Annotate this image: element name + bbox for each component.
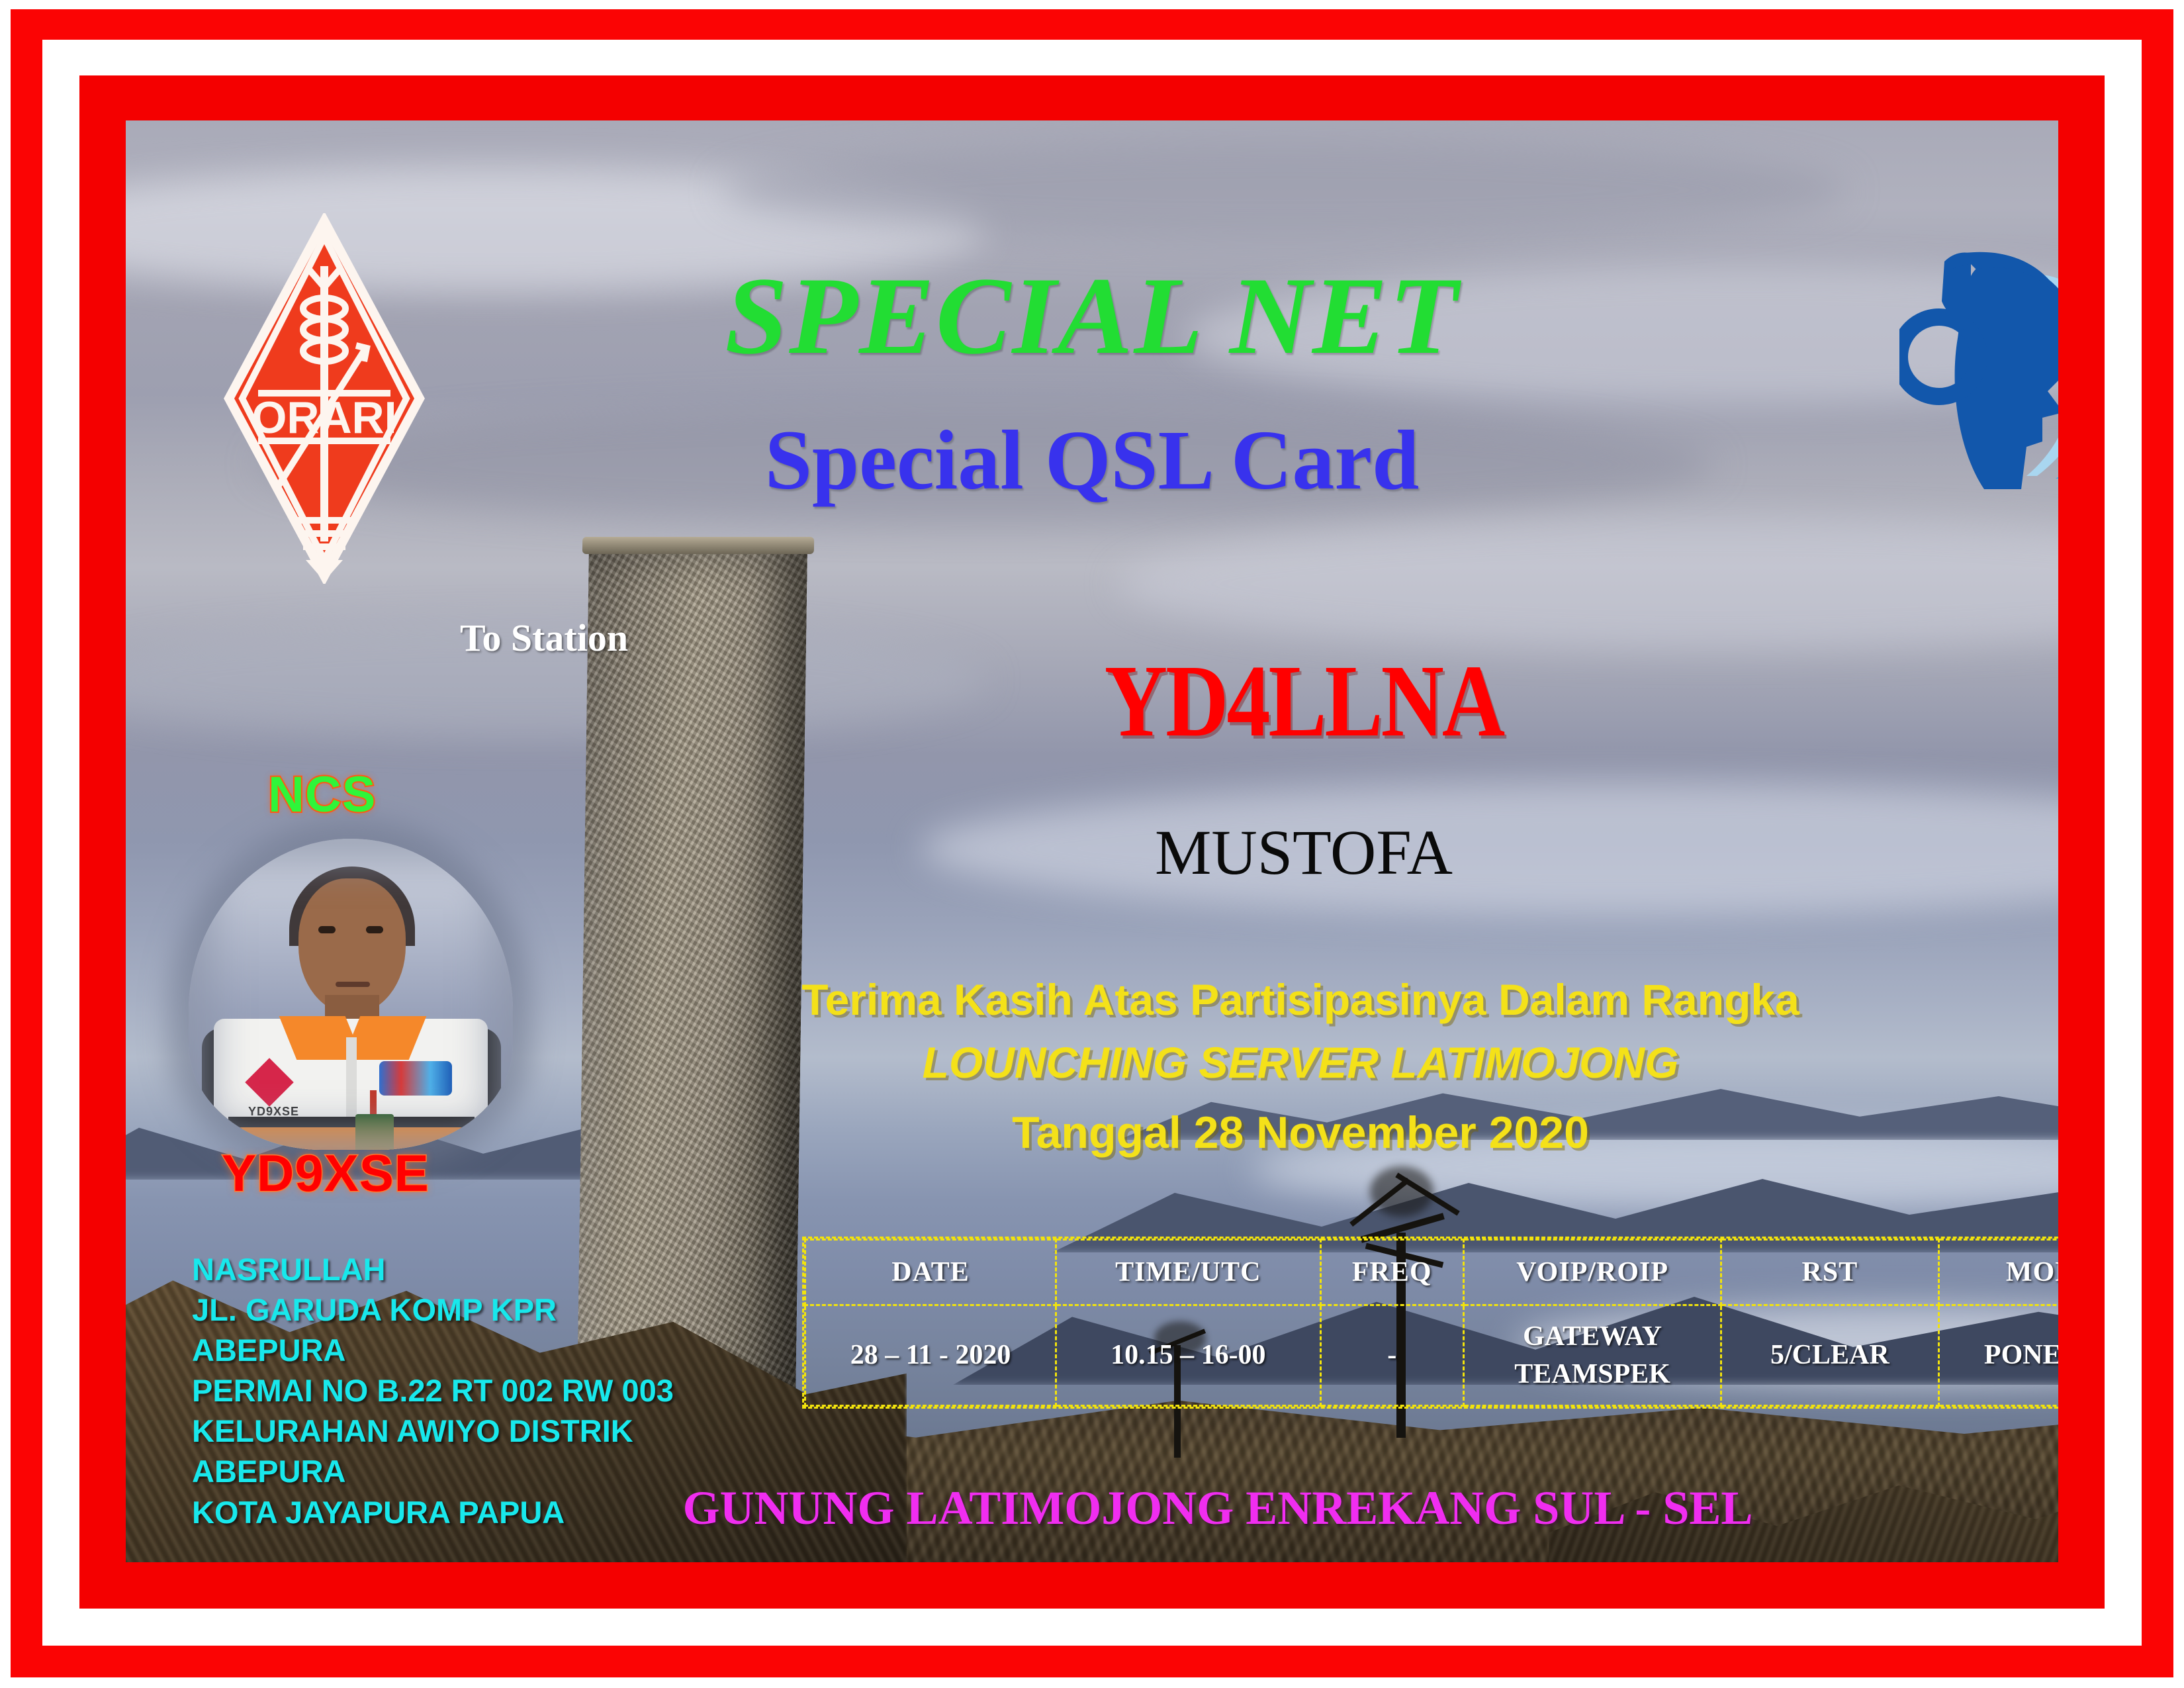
column-header-voip: VOIP/ROIP [1463,1240,1721,1305]
inner-red-border: ORARI [79,75,2105,1609]
cell-time: 10.15 – 16-00 [1056,1305,1320,1406]
white-border-gap: ORARI [42,40,2142,1646]
address-line: KELURAHAN AWIYO DISTRIK [192,1411,674,1451]
address-line: JL. GARUDA KOMP KPR [192,1289,674,1330]
column-header-date: DATE [805,1240,1056,1305]
outer-red-border: ORARI [11,9,2173,1677]
location-caption: GUNUNG LATIMOJONG ENREKANG SUL - SEL [251,1481,2058,1536]
cell-voip: GATEWAY TEAMSPEK [1463,1305,1721,1406]
card-photo-background: ORARI [126,120,2058,1562]
qso-details-table: DATE TIME/UTC FREQ VOIP/ROIP RST MODE [802,1237,2058,1409]
cell-voip-line2: TEAMSPEK [1465,1356,1720,1393]
page-title: SPECIAL NET [126,253,2058,380]
cell-voip-line1: GATEWAY [1465,1318,1720,1356]
column-header-freq: FREQ [1320,1240,1463,1305]
address-line: ABEPURA [192,1330,674,1370]
cloud-2 [721,140,1846,240]
to-station-callsign: YD4LLNA [338,641,2058,761]
message-line-1: Terima Kasih Atas Partisipasinya Dalam R… [334,974,2058,1025]
page-subtitle: Special QSL Card [126,412,2058,509]
ncs-label: NCS [268,766,376,823]
cell-rst: 5/CLEAR [1721,1305,1938,1406]
column-header-mode: MODE [1938,1240,2058,1305]
message-line-2: LOUNCHING SERVER LATIMOJONG [334,1037,2058,1088]
message-line-3: Tanggal 28 November 2020 [334,1107,2058,1158]
cell-mode: PONE/CW [1938,1305,2058,1406]
address-line: PERMAI NO B.22 RT 002 RW 003 [192,1370,674,1411]
address-line: NASRULLAH [192,1249,674,1289]
cell-date: 28 – 11 - 2020 [805,1305,1056,1406]
cell-freq: - [1320,1305,1463,1406]
qsl-card: ORARI [0,0,2184,1688]
column-header-rst: RST [1721,1240,1938,1305]
table-header-row: DATE TIME/UTC FREQ VOIP/ROIP RST MODE [805,1240,2059,1305]
table-row: 28 – 11 - 2020 10.15 – 16-00 - GATEWAY T… [805,1305,2059,1406]
column-header-time: TIME/UTC [1056,1240,1320,1305]
operator-name: MUSTOFA [338,816,2058,889]
